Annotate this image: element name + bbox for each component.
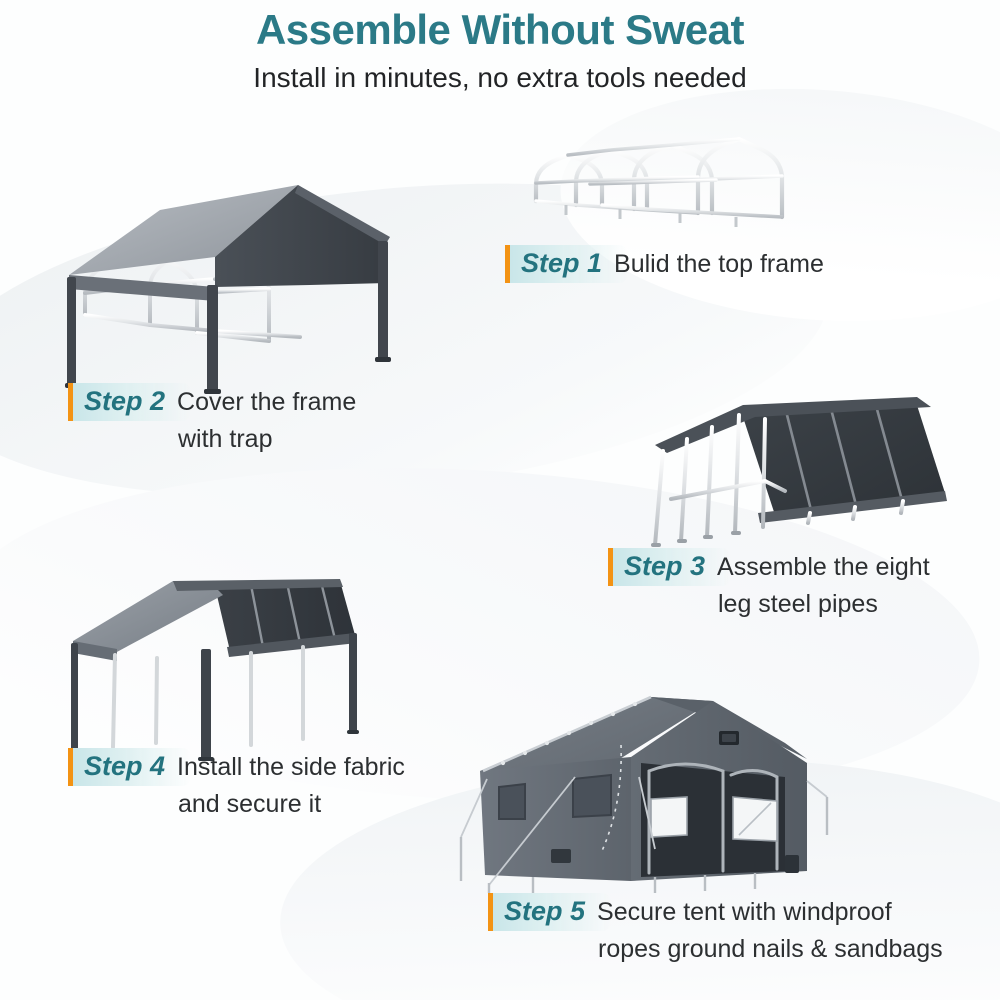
step-1-badge: Step 1 — [505, 245, 628, 283]
step-4-line1: Step 4 Install the side fabric — [68, 748, 405, 786]
eight-leg-pipes-illustration — [615, 395, 990, 565]
step-5-badge: Step 5 — [488, 893, 611, 931]
page-title: Assemble Without Sweat — [0, 6, 1000, 54]
step-3-badge-label: Step 3 — [624, 551, 705, 582]
step-3-description: Assemble the eight — [717, 553, 930, 582]
infographic-page: Assemble Without Sweat Install in minute… — [0, 0, 1000, 1000]
step-3-line1: Step 3 Assemble the eight — [608, 548, 930, 586]
step-4-description-line2: and secure it — [68, 790, 405, 819]
step-2-line1: Step 2 Cover the frame — [68, 383, 356, 421]
step-4-caption: Step 4 Install the side fabric and secur… — [68, 748, 405, 819]
step-5-line1: Step 5 Secure tent with windproof — [488, 893, 943, 931]
step-2-badge-label: Step 2 — [84, 386, 165, 417]
step-1-badge-label: Step 1 — [521, 248, 602, 279]
step-3-description-line2: leg steel pipes — [608, 590, 930, 619]
step-1-line1: Step 1 Bulid the top frame — [505, 245, 824, 283]
step-5-description-line2: ropes ground nails & sandbags — [488, 935, 943, 964]
frame-with-tarp-illustration — [55, 165, 435, 395]
step-5-badge-label: Step 5 — [504, 896, 585, 927]
step-1-description: Bulid the top frame — [614, 250, 824, 279]
step-2-description: Cover the frame — [177, 388, 356, 417]
step-3-badge: Step 3 — [608, 548, 731, 586]
step-4-description: Install the side fabric — [177, 753, 405, 782]
finished-enclosed-tent-illustration — [455, 685, 895, 895]
roof-frame-skeleton-illustration — [530, 105, 810, 235]
step-1-caption: Step 1 Bulid the top frame — [505, 245, 824, 283]
page-subtitle: Install in minutes, no extra tools neede… — [0, 62, 1000, 94]
step-3-caption: Step 3 Assemble the eight leg steel pipe… — [608, 548, 930, 619]
step-4-badge-label: Step 4 — [84, 751, 165, 782]
step-2-caption: Step 2 Cover the frame with trap — [68, 383, 356, 454]
step-5-description: Secure tent with windproof — [597, 898, 892, 927]
step-5-caption: Step 5 Secure tent with windproof ropes … — [488, 893, 943, 964]
step-4-badge: Step 4 — [68, 748, 191, 786]
step-2-badge: Step 2 — [68, 383, 191, 421]
step-2-description-line2: with trap — [68, 425, 356, 454]
standing-carport-illustration — [55, 575, 400, 765]
